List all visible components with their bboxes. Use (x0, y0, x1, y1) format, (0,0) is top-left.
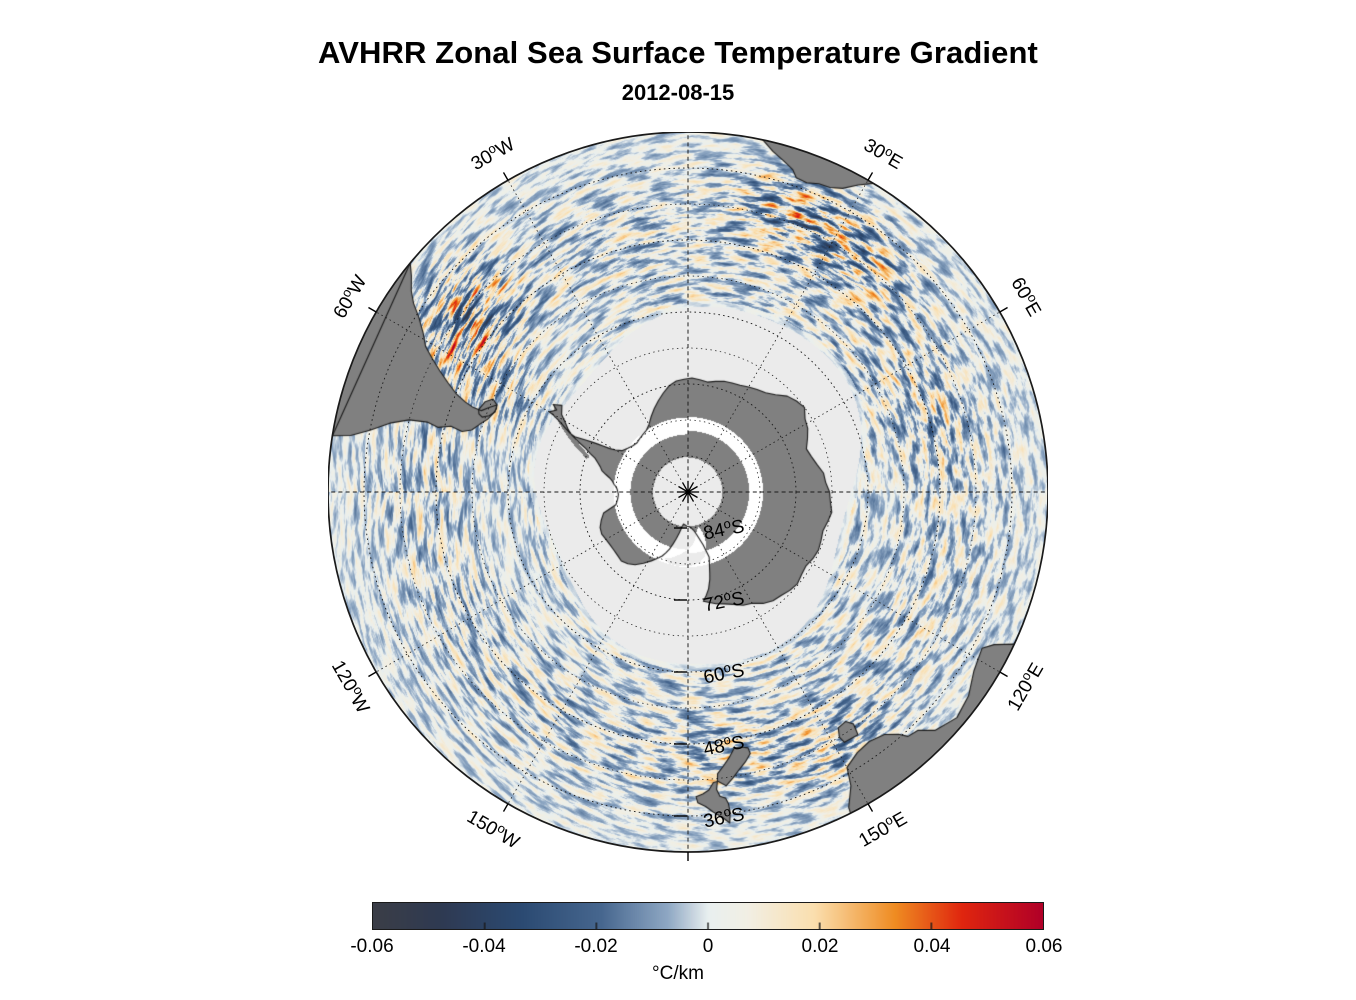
page-title: AVHRR Zonal Sea Surface Temperature Grad… (0, 34, 1356, 72)
meridian-150W (508, 492, 688, 804)
title-block: AVHRR Zonal Sea Surface Temperature Grad… (0, 34, 1356, 108)
lat-label-72S: 72oS (701, 585, 746, 617)
lat-label-48S: 48oS (701, 729, 746, 761)
colorbar-tick-1: -0.04 (462, 936, 505, 958)
figure-root: AVHRR Zonal Sea Surface Temperature Grad… (0, 0, 1356, 1000)
lat-label-84S: 84oS (701, 513, 746, 545)
lon-label-120W: 120oW (328, 656, 376, 717)
colorbar-tick-4: 0.02 (802, 936, 839, 958)
lon-label-30W: 30oW (466, 132, 518, 175)
meridian-60W (376, 312, 688, 492)
lon-label-60E: 60oE (1006, 272, 1047, 320)
colorbar-unit-label: °C/km (0, 963, 1356, 985)
latitude-labels: 84oS72oS60oS48oS36oS (674, 513, 746, 833)
colorbar-gradient (372, 902, 1044, 930)
meridian-30W (508, 180, 688, 492)
lon-tick (368, 308, 376, 313)
lon-label-120E: 120oE (1001, 658, 1048, 715)
polar-map: 0o30oE60oE90oE120oE150oE180oW150oW120oW9… (328, 132, 1048, 862)
lat-label-60S: 60oS (701, 657, 746, 689)
lon-tick (868, 804, 873, 812)
lon-tick (1000, 672, 1008, 677)
lon-label-150E: 150oE (854, 805, 911, 852)
lat-label-36S: 36oS (701, 801, 746, 833)
lon-tick (1000, 308, 1008, 313)
lon-label-30E: 30oE (860, 132, 908, 173)
lon-label-150W: 150oW (463, 804, 524, 853)
colorbar (372, 902, 1044, 932)
meridian-30E (688, 180, 868, 492)
lon-label-60W: 60oW (328, 270, 371, 322)
lon-tick (368, 672, 376, 677)
meridian-60E (688, 312, 1000, 492)
lon-tick (504, 172, 509, 180)
lon-tick (504, 804, 509, 812)
colorbar-tick-3: 0 (703, 936, 714, 958)
lon-tick (868, 172, 873, 180)
colorbar-tick-labels: -0.06-0.04-0.0200.020.040.06 (372, 936, 1044, 960)
colorbar-tick-0: -0.06 (350, 936, 393, 958)
meridian-120W (376, 492, 688, 672)
figure-subtitle: 2012-08-15 (0, 78, 1356, 108)
colorbar-tick-2: -0.02 (574, 936, 617, 958)
pole-marker (677, 481, 699, 503)
colorbar-tick-6: 0.06 (1026, 936, 1063, 958)
map-overlay: 0o30oE60oE90oE120oE150oE180oW150oW120oW9… (328, 132, 1048, 862)
colorbar-tick-5: 0.04 (914, 936, 951, 958)
